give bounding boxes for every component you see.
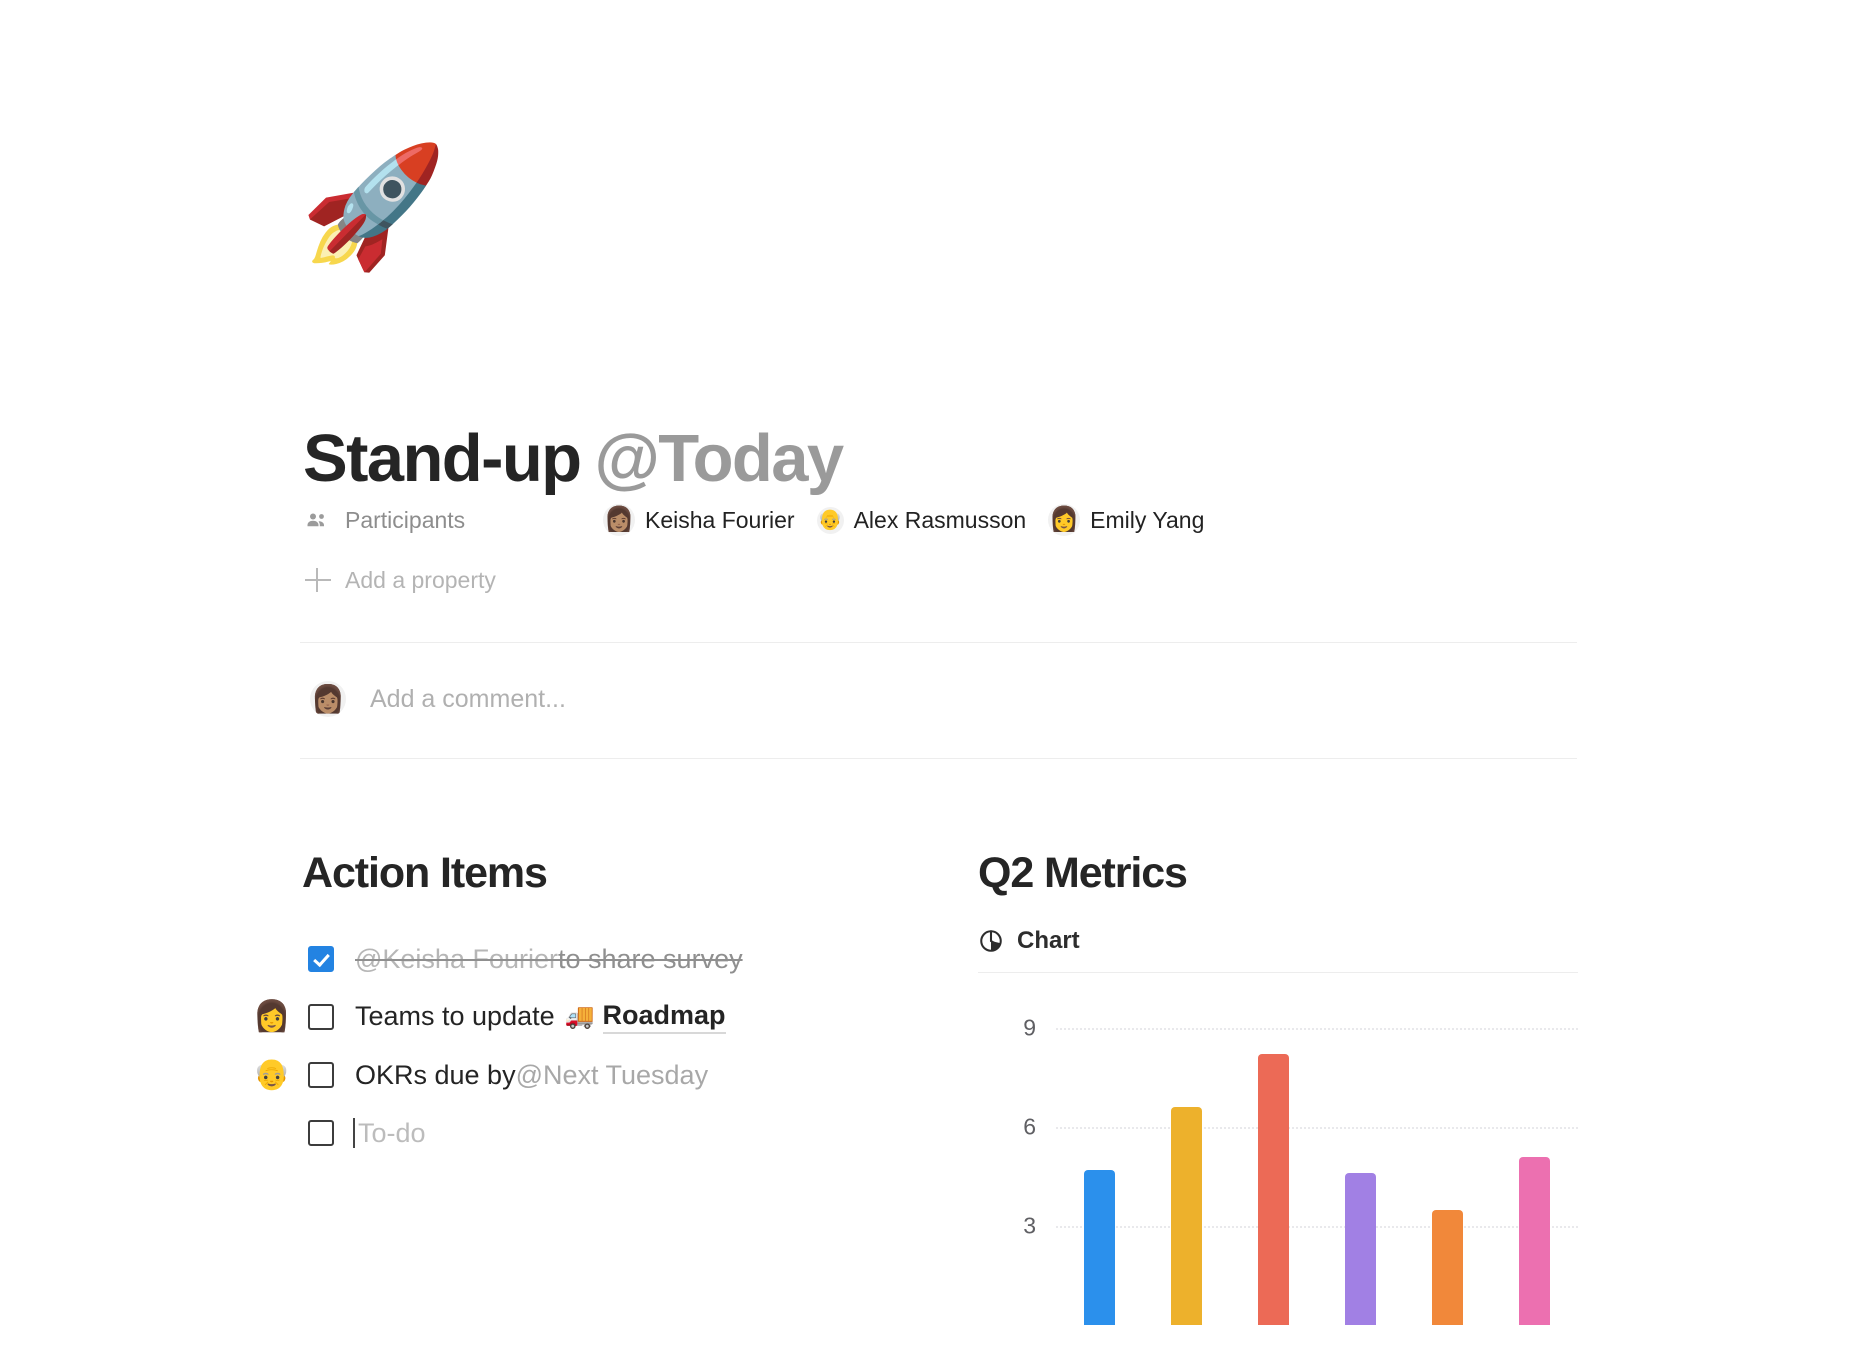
participant-name: Alex Rasmusson — [854, 507, 1027, 534]
property-row-participants[interactable]: Participants 👩🏽 Keisha Fourier 👴 Alex Ra… — [303, 500, 1204, 540]
page-title-text: Stand-up — [303, 421, 580, 496]
add-comment-placeholder: Add a comment... — [370, 685, 566, 714]
plus-icon — [303, 565, 333, 595]
todo-text-rest: OKRs due by — [355, 1060, 516, 1091]
chart-bar[interactable] — [1171, 1107, 1202, 1325]
date-mention[interactable]: @Next Tuesday — [516, 1060, 709, 1091]
todo-checkbox[interactable] — [308, 1120, 334, 1146]
add-comment-input[interactable]: 👩🏽 Add a comment... — [310, 681, 566, 717]
todo-text-rest: Teams to update — [355, 1001, 555, 1032]
truck-icon: 🚚 — [565, 1005, 595, 1029]
chart-bar[interactable] — [1258, 1054, 1289, 1325]
heading-q2-metrics: Q2 Metrics — [978, 852, 1187, 895]
todo-item-empty[interactable]: To-do — [252, 1104, 892, 1162]
avatar: 👩 — [252, 997, 292, 1037]
avatar: 👩 — [1048, 504, 1080, 536]
divider — [300, 642, 1577, 643]
participant-name: Emily Yang — [1090, 507, 1204, 534]
bar-chart[interactable]: 963 — [978, 995, 1578, 1325]
page-title[interactable]: Stand-up@Today — [303, 425, 843, 492]
page-emoji-icon[interactable]: 🚀 — [300, 148, 447, 266]
tab-chart[interactable]: Chart — [978, 927, 1080, 955]
todo-placeholder-label: To-do — [358, 1118, 426, 1148]
todo-text-rest: to share survey — [558, 944, 743, 975]
todo-checkbox[interactable] — [308, 946, 334, 972]
page-title-date-mention[interactable]: @Today — [594, 421, 842, 496]
text-caret — [353, 1118, 355, 1148]
chart-bar[interactable] — [1432, 1210, 1463, 1326]
avatar: 👩🏽 — [310, 681, 346, 717]
participant-name: Keisha Fourier — [645, 507, 795, 534]
tab-chart-label: Chart — [1017, 927, 1080, 955]
y-axis-tick-label: 9 — [978, 1015, 1036, 1042]
avatar: 👴 — [252, 1055, 292, 1095]
property-label-participants[interactable]: Participants — [303, 507, 603, 534]
document-page: 🚀 Stand-up@Today Participants 👩🏽 Keisha … — [0, 0, 1873, 1346]
person-mention[interactable]: @Keisha Fourier — [355, 944, 558, 975]
action-items-list: @Keisha Fourier to share survey 👩 Teams … — [252, 930, 892, 1162]
pie-chart-icon — [978, 928, 1004, 954]
chart-tabbar: Chart — [978, 927, 1578, 973]
todo-label[interactable]: Teams to update🚚Roadmap — [355, 1000, 726, 1033]
chart-bar[interactable] — [1084, 1170, 1115, 1325]
participant-chip[interactable]: 👴 Alex Rasmusson — [817, 507, 1027, 534]
heading-action-items: Action Items — [302, 852, 547, 895]
add-property-label: Add a property — [345, 567, 496, 594]
chart-bar[interactable] — [1345, 1173, 1376, 1325]
page-link-roadmap[interactable]: 🚚Roadmap — [565, 1000, 726, 1033]
todo-item[interactable]: 👩 Teams to update🚚Roadmap — [252, 988, 892, 1046]
todo-label[interactable]: @Keisha Fourier to share survey — [355, 944, 743, 975]
todo-item[interactable]: 👴 OKRs due by @Next Tuesday — [252, 1046, 892, 1104]
participants-list[interactable]: 👩🏽 Keisha Fourier 👴 Alex Rasmusson 👩 Emi… — [603, 504, 1204, 536]
chart-bar[interactable] — [1519, 1157, 1550, 1325]
todo-placeholder[interactable]: To-do — [355, 1118, 426, 1149]
property-label-text: Participants — [345, 507, 465, 534]
participant-chip[interactable]: 👩🏽 Keisha Fourier — [603, 504, 795, 536]
todo-item[interactable]: @Keisha Fourier to share survey — [252, 930, 892, 988]
todo-checkbox[interactable] — [308, 1004, 334, 1030]
divider — [300, 758, 1577, 759]
y-axis-tick-label: 6 — [978, 1114, 1036, 1141]
avatar: 👴 — [817, 507, 844, 534]
people-icon — [303, 508, 331, 532]
todo-checkbox[interactable] — [308, 1062, 334, 1088]
chart-bars — [1056, 995, 1578, 1325]
page-link-label: Roadmap — [603, 1000, 726, 1033]
chart-block: Chart 963 — [978, 927, 1578, 1325]
participant-chip[interactable]: 👩 Emily Yang — [1048, 504, 1204, 536]
add-property-button[interactable]: Add a property — [303, 560, 496, 600]
y-axis-tick-label: 3 — [978, 1213, 1036, 1240]
todo-label[interactable]: OKRs due by @Next Tuesday — [355, 1060, 708, 1091]
avatar: 👩🏽 — [603, 504, 635, 536]
